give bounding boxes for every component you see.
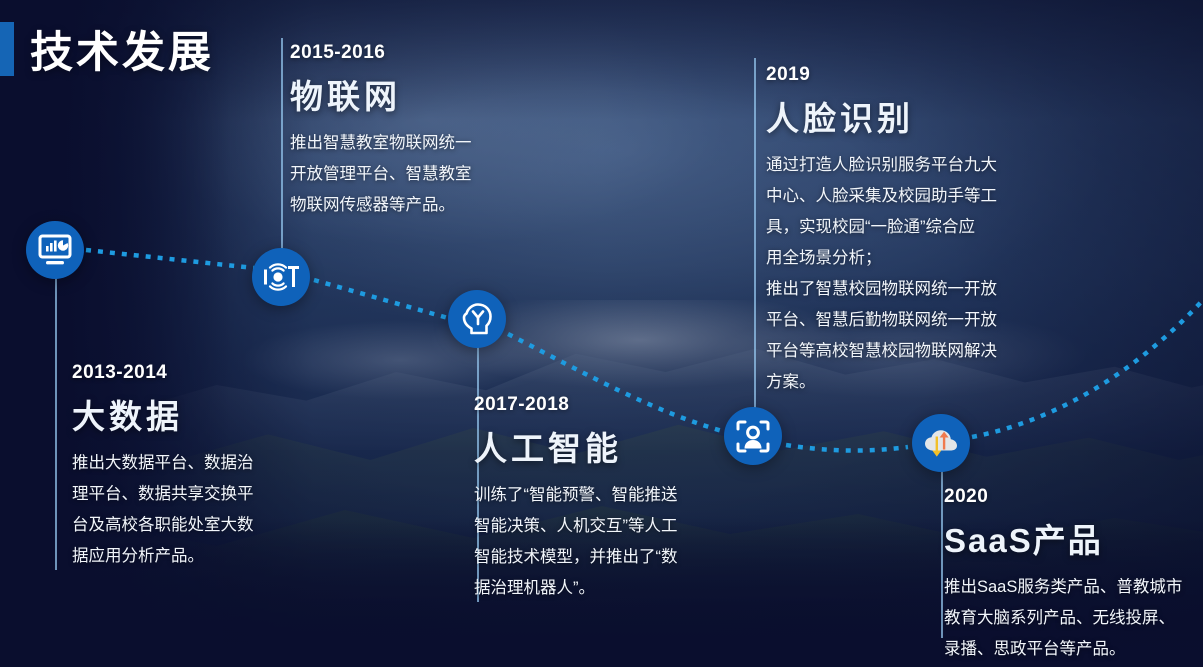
page-header: 技术发展 bbox=[0, 18, 214, 80]
node-big-data[interactable] bbox=[26, 221, 84, 279]
ai-head-icon bbox=[461, 302, 493, 336]
milestone-body: 推出大数据平台、数据治 理平台、数据共享交换平 台及高校各职能处室大数 据应用分… bbox=[72, 448, 297, 572]
milestone-body: 训练了“智能预警、智能推送 智能决策、人机交互”等人工 智能技术模型，并推出了“… bbox=[474, 480, 719, 604]
milestone-saas: 2020 SaaS产品 推出SaaS服务类产品、普教城市 教育大脑系列产品、无线… bbox=[944, 486, 1194, 665]
milestone-heading: SaaS产品 bbox=[944, 514, 1194, 562]
header-accent-bar bbox=[0, 22, 14, 76]
stem-big-data bbox=[55, 278, 57, 570]
milestone-heading: 大数据 bbox=[72, 390, 297, 438]
page-title: 技术发展 bbox=[30, 18, 214, 80]
milestone-year: 2017-2018 bbox=[474, 394, 719, 416]
stem-iot bbox=[281, 38, 283, 252]
milestone-body: 通过打造人脸识别服务平台九大 中心、人脸采集及校园助手等工 具，实现校园“一脸通… bbox=[766, 150, 1024, 398]
node-ai[interactable] bbox=[448, 290, 506, 348]
node-saas[interactable] bbox=[912, 414, 970, 472]
cloud-transfer-icon bbox=[923, 427, 959, 459]
milestone-body: 推出SaaS服务类产品、普教城市 教育大脑系列产品、无线投屏、 录播、思政平台等… bbox=[944, 572, 1194, 665]
iot-signal-icon bbox=[262, 261, 300, 293]
stem-face-recognition bbox=[754, 58, 756, 410]
infographic-canvas: 技术发展 bbox=[0, 0, 1203, 667]
node-iot[interactable] bbox=[252, 248, 310, 306]
milestone-iot: 2015-2016 物联网 推出智慧教室物联网统一 开放管理平台、智慧教室 物联… bbox=[290, 42, 525, 221]
milestone-heading: 人工智能 bbox=[474, 422, 719, 470]
milestone-body: 推出智慧教室物联网统一 开放管理平台、智慧教室 物联网传感器等产品。 bbox=[290, 128, 525, 221]
milestone-year: 2013-2014 bbox=[72, 362, 297, 384]
milestone-year: 2020 bbox=[944, 486, 1194, 508]
milestone-heading: 人脸识别 bbox=[766, 92, 1024, 140]
face-scan-icon bbox=[736, 420, 770, 453]
monitor-chart-icon bbox=[38, 234, 72, 266]
stem-saas bbox=[941, 464, 943, 638]
milestone-ai: 2017-2018 人工智能 训练了“智能预警、智能推送 智能决策、人机交互”等… bbox=[474, 394, 719, 604]
milestone-heading: 物联网 bbox=[290, 70, 525, 118]
node-face-recognition[interactable] bbox=[724, 407, 782, 465]
milestone-face-recognition: 2019 人脸识别 通过打造人脸识别服务平台九大 中心、人脸采集及校园助手等工 … bbox=[766, 64, 1024, 398]
milestone-big-data: 2013-2014 大数据 推出大数据平台、数据治 理平台、数据共享交换平 台及… bbox=[72, 362, 297, 572]
milestone-year: 2015-2016 bbox=[290, 42, 525, 64]
milestone-year: 2019 bbox=[766, 64, 1024, 86]
